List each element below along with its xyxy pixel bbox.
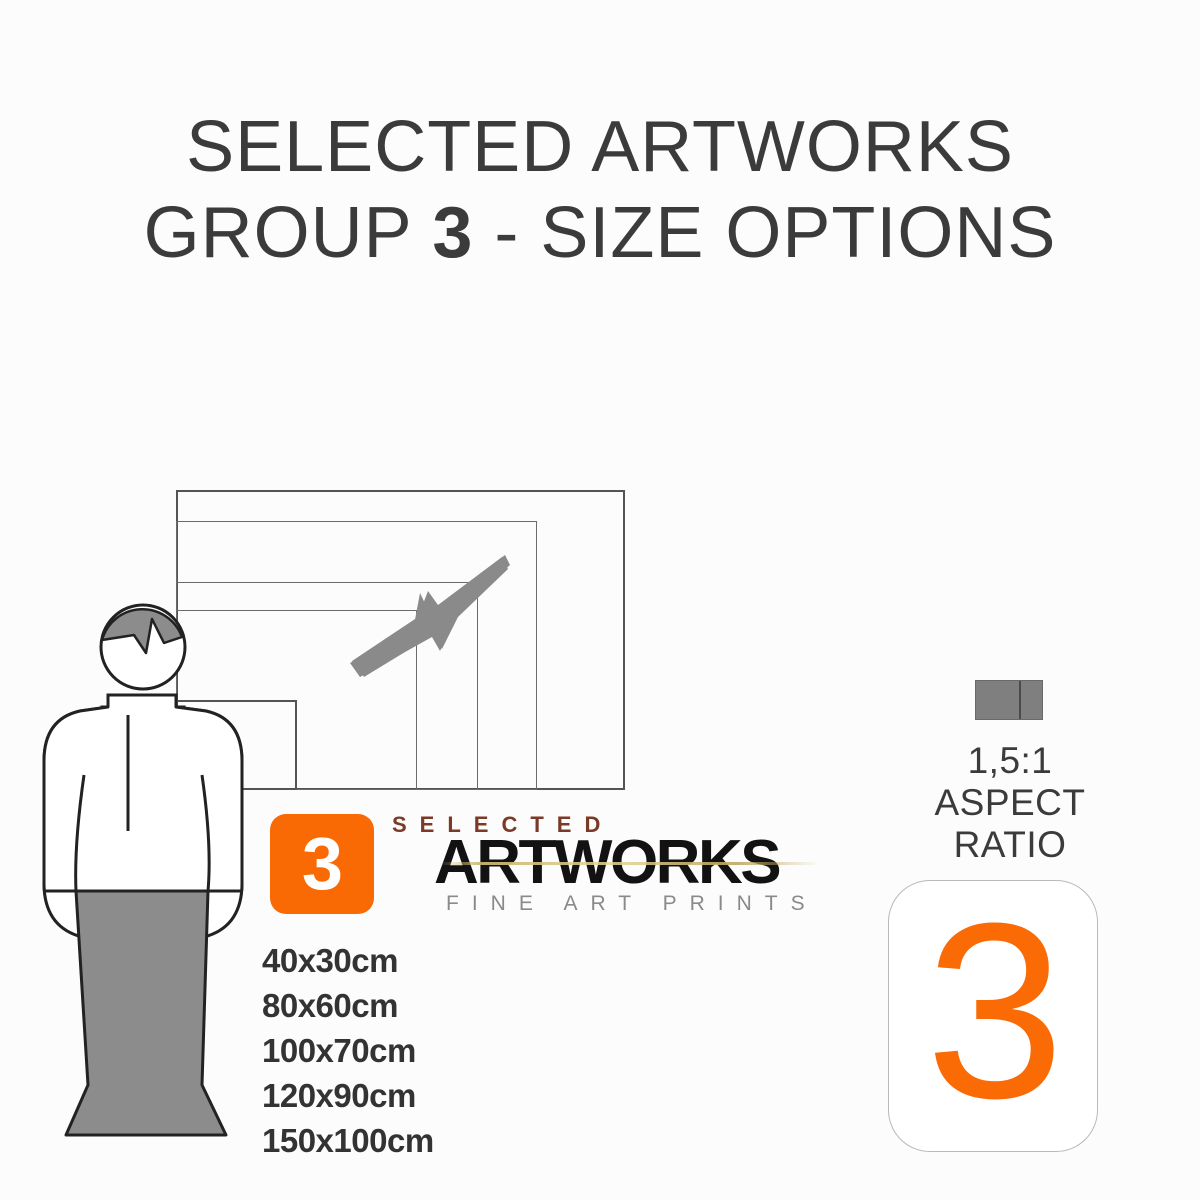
size-options-list: 40x30cm 80x60cm 100x70cm 120x90cm 150x10… <box>262 938 562 1163</box>
poster-canvas: SELECTED ARTWORKS GROUP 3 - SIZE OPTIONS <box>0 0 1200 1200</box>
logo-tagline-text: FINE ART PRINTS <box>446 892 818 916</box>
aspect-ratio-text: 1,5:1 ASPECT RATIO <box>900 740 1120 866</box>
aspect-label-line-2: RATIO <box>900 824 1120 866</box>
group-number-badge: 3 <box>270 814 374 914</box>
aspect-label-line-1: ASPECT <box>900 782 1120 824</box>
size-option-2: 80x60cm <box>262 983 562 1028</box>
size-option-3: 100x70cm <box>262 1028 562 1073</box>
size-option-1: 40x30cm <box>262 938 562 983</box>
aspect-ratio-swatch-icon <box>975 680 1043 720</box>
size-option-5: 150x100cm <box>262 1118 562 1163</box>
aspect-ratio-value: 1,5:1 <box>900 740 1120 782</box>
brand-logo: 3 SELECTED ARTWORKS FINE ART PRINTS <box>270 810 830 925</box>
logo-wordmark: SELECTED ARTWORKS FINE ART PRINTS <box>382 810 832 922</box>
growth-arrow-icon <box>330 555 530 685</box>
group-number-tile-value: 3 <box>889 875 1097 1147</box>
group-number-tile: 3 <box>888 880 1098 1152</box>
logo-brush-streak <box>438 862 820 865</box>
person-scale-figure <box>30 595 300 1165</box>
size-option-4: 120x90cm <box>262 1073 562 1118</box>
aspect-ratio-divider <box>1019 681 1021 719</box>
